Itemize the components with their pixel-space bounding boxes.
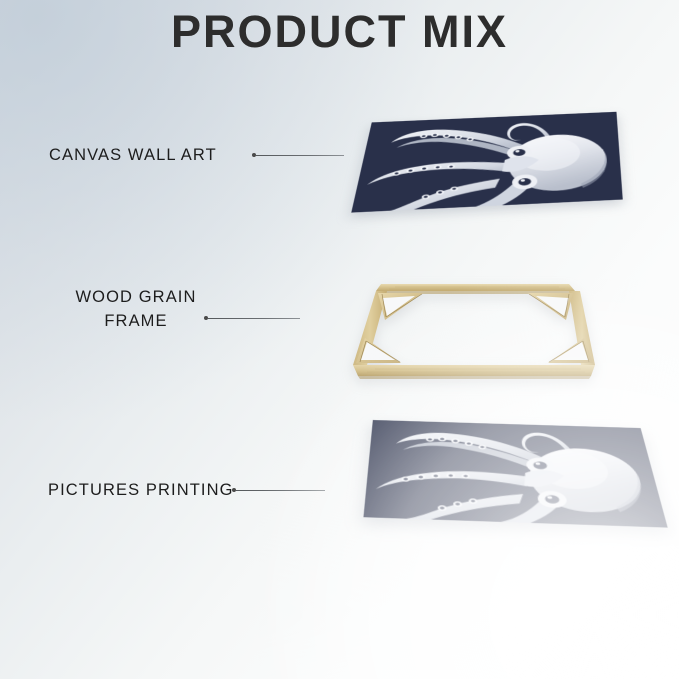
- octopus-illustration-icon: [351, 112, 622, 213]
- octopus-artwork-top: [351, 112, 622, 213]
- leader-stroke: [236, 490, 325, 491]
- wood-frame-illustration-icon: [345, 258, 605, 390]
- callout-label-line-1: WOOD GRAIN: [66, 286, 206, 310]
- infographic-canvas: PRODUCT MIX CANVAS WALL ART WOOD GRAIN F…: [0, 0, 679, 679]
- callout-label-line-2: FRAME: [66, 310, 206, 334]
- page-title: PRODUCT MIX: [0, 8, 679, 55]
- callout-label-pictures-printing: PICTURES PRINTING: [48, 479, 234, 503]
- octopus-artwork-bottom: [363, 420, 667, 528]
- callout-label-wood-grain-frame: WOOD GRAIN FRAME: [66, 286, 206, 334]
- octopus-illustration-icon: [363, 420, 667, 528]
- product-image-canvas-wall-art: [351, 112, 622, 213]
- product-image-wood-grain-frame: [345, 258, 605, 390]
- leader-stroke: [208, 318, 300, 319]
- product-image-pictures-printing: [363, 420, 667, 528]
- leader-stroke: [256, 155, 344, 156]
- callout-label-canvas-wall-art: CANVAS WALL ART: [49, 144, 217, 168]
